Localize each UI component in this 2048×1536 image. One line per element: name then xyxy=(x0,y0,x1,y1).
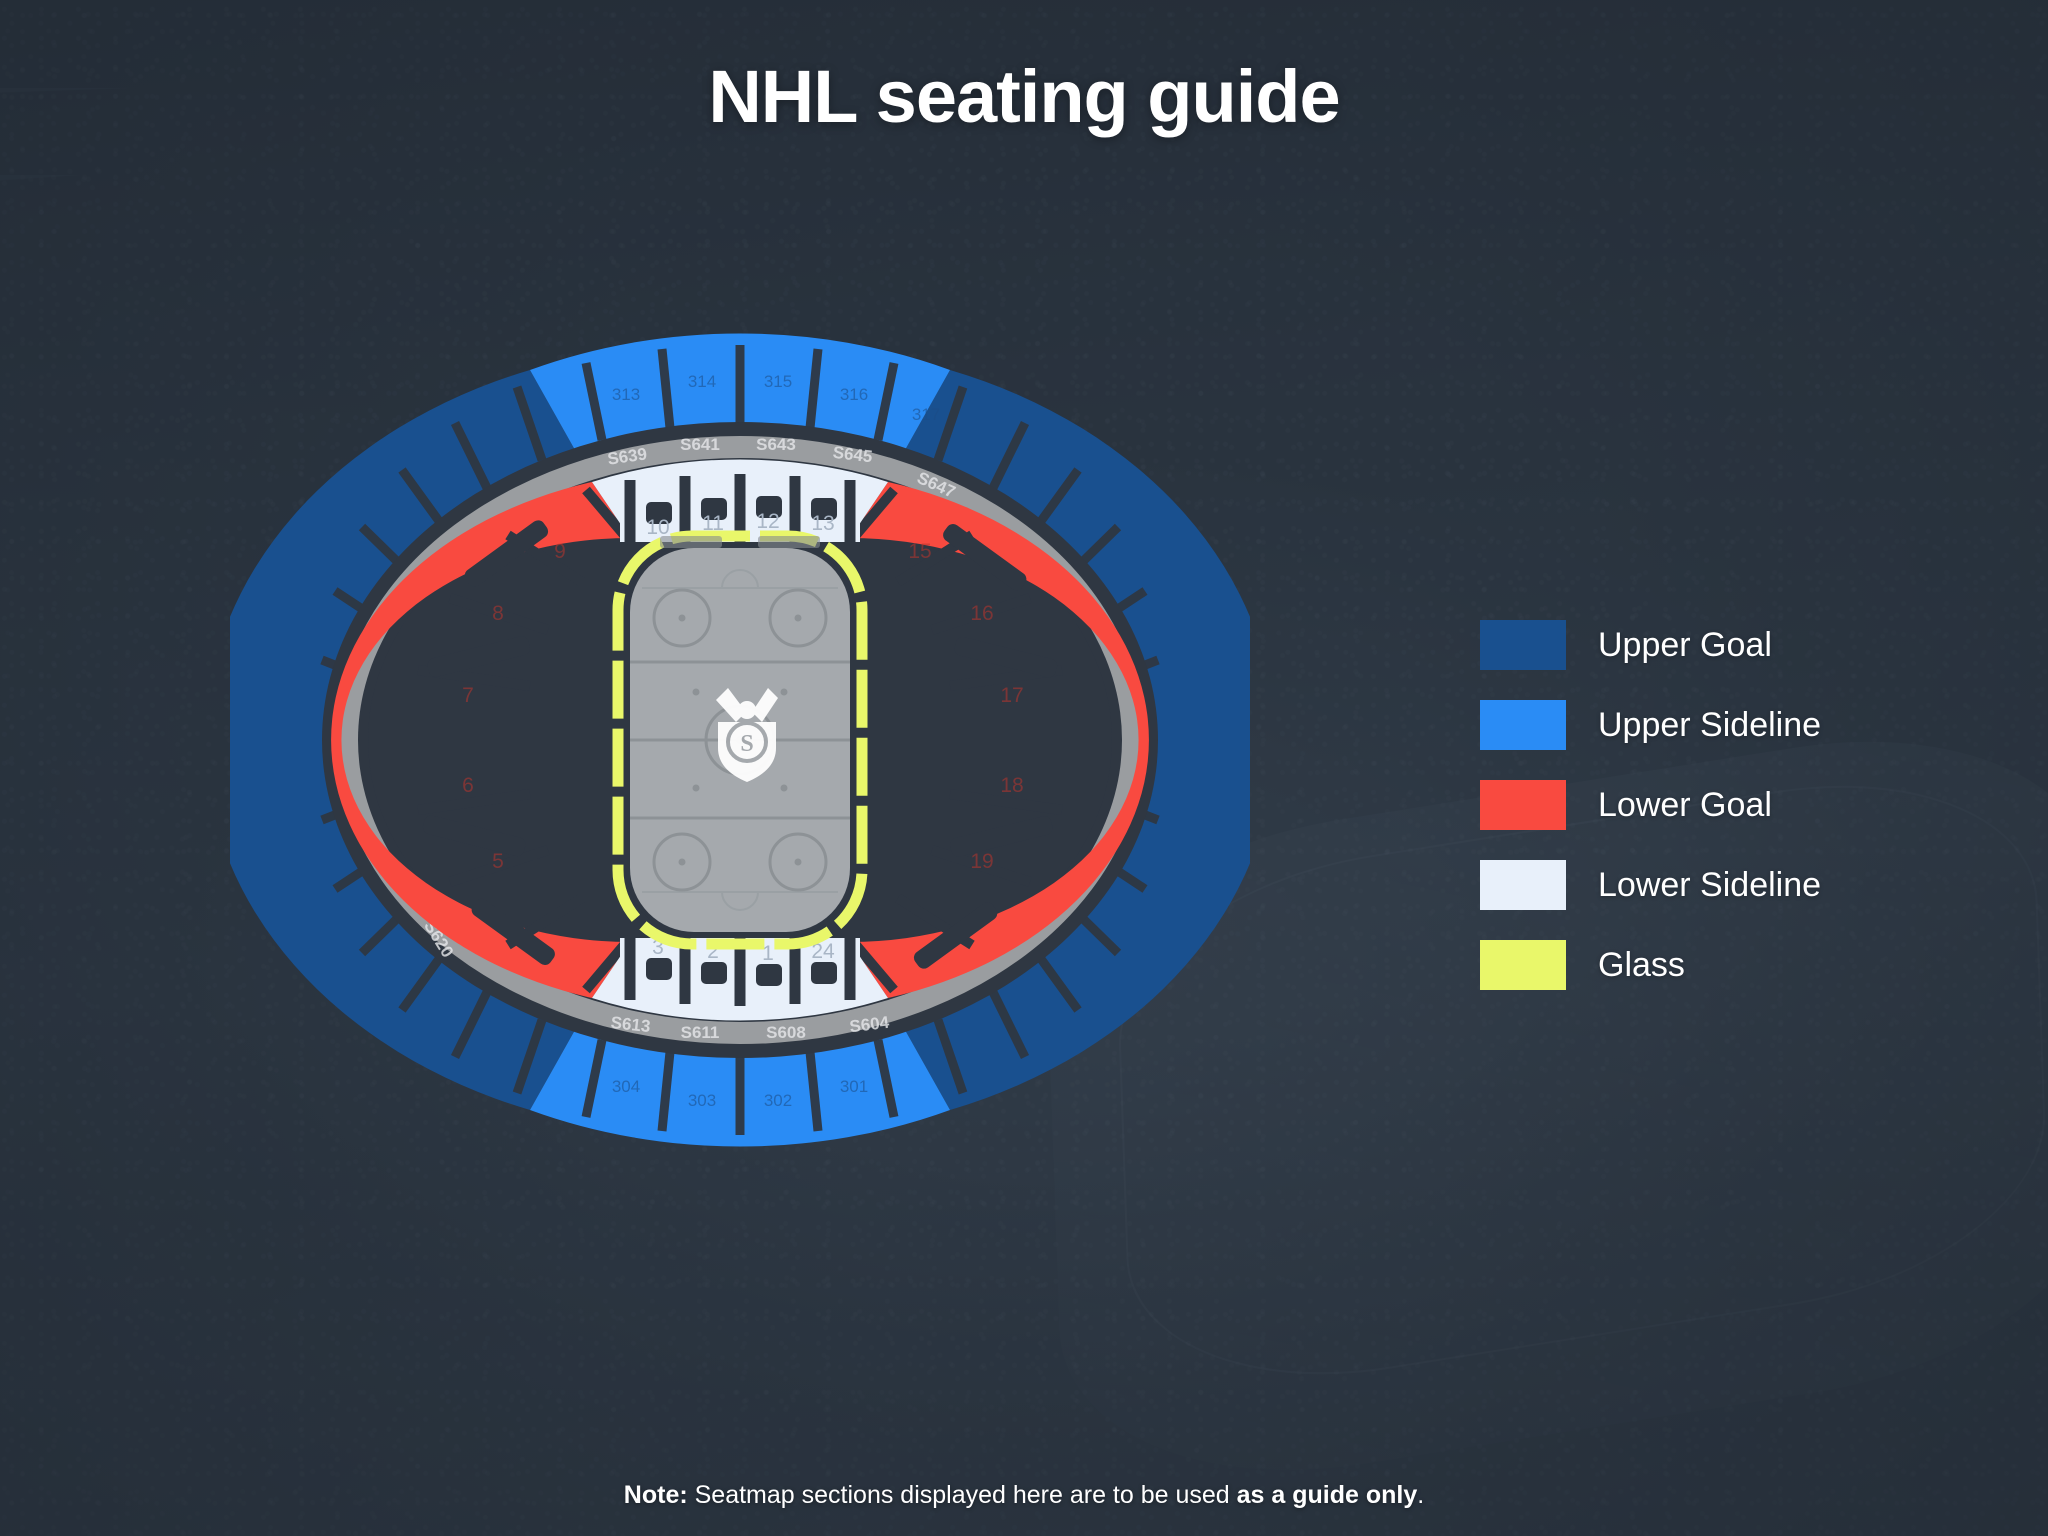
svg-text:313: 313 xyxy=(612,385,640,404)
legend-label-upper-sideline: Upper Sideline xyxy=(1598,706,1821,745)
svg-text:S641: S641 xyxy=(680,435,720,454)
svg-text:S643: S643 xyxy=(756,435,796,454)
svg-text:15: 15 xyxy=(908,540,931,563)
svg-text:S608: S608 xyxy=(766,1023,806,1042)
svg-text:301: 301 xyxy=(840,1077,868,1096)
legend-item-upper-goal[interactable]: Upper Goal xyxy=(1480,620,1821,670)
svg-text:17: 17 xyxy=(1000,684,1023,707)
svg-text:9: 9 xyxy=(554,540,566,563)
legend-label-glass: Glass xyxy=(1598,946,1685,985)
svg-text:315: 315 xyxy=(764,372,792,391)
legend-swatch-upper-goal xyxy=(1480,620,1566,670)
svg-text:316: 316 xyxy=(840,385,868,404)
footer-note-label: Note: xyxy=(624,1481,688,1509)
svg-text:S611: S611 xyxy=(681,1023,720,1042)
legend-item-upper-sideline[interactable]: Upper Sideline xyxy=(1480,700,1821,750)
svg-text:18: 18 xyxy=(1000,774,1023,797)
legend: Upper Goal Upper Sideline Lower Goal Low… xyxy=(1480,620,1821,990)
legend-label-upper-goal: Upper Goal xyxy=(1598,626,1772,665)
page-title: NHL seating guide xyxy=(0,56,2048,137)
legend-label-lower-goal: Lower Goal xyxy=(1598,786,1772,825)
svg-text:314: 314 xyxy=(688,372,716,391)
legend-item-lower-goal[interactable]: Lower Goal xyxy=(1480,780,1821,830)
svg-text:317: 317 xyxy=(912,405,940,424)
svg-text:16: 16 xyxy=(970,602,993,625)
svg-text:10: 10 xyxy=(646,516,669,539)
legend-swatch-lower-sideline xyxy=(1480,860,1566,910)
legend-item-lower-sideline[interactable]: Lower Sideline xyxy=(1480,860,1821,910)
svg-text:304: 304 xyxy=(612,1077,640,1096)
svg-text:19: 19 xyxy=(970,850,993,873)
legend-label-lower-sideline: Lower Sideline xyxy=(1598,866,1821,905)
svg-text:12: 12 xyxy=(756,510,779,533)
svg-text:7: 7 xyxy=(462,684,474,707)
footer-note-end: . xyxy=(1417,1481,1424,1509)
footer-note-text: Seatmap sections displayed here are to b… xyxy=(688,1481,1237,1509)
svg-text:302: 302 xyxy=(764,1091,792,1110)
legend-swatch-glass xyxy=(1480,940,1566,990)
svg-text:5: 5 xyxy=(492,850,504,873)
logo-letter: S xyxy=(740,731,753,757)
legend-item-glass[interactable]: Glass xyxy=(1480,940,1821,990)
svg-text:13: 13 xyxy=(811,512,834,535)
footer-note-emphasis: as a guide only xyxy=(1237,1481,1418,1509)
seatmap-svg[interactable]: 313 314 315 316 317 304 303 302 301 S639… xyxy=(230,330,1250,1150)
legend-swatch-upper-sideline xyxy=(1480,700,1566,750)
svg-text:8: 8 xyxy=(492,602,504,625)
svg-text:303: 303 xyxy=(688,1091,716,1110)
footer-note: Note: Seatmap sections displayed here ar… xyxy=(0,1481,2048,1510)
seatmap[interactable]: 313 314 315 316 317 304 303 302 301 S639… xyxy=(230,330,1250,1150)
legend-swatch-lower-goal xyxy=(1480,780,1566,830)
svg-text:6: 6 xyxy=(462,774,474,797)
